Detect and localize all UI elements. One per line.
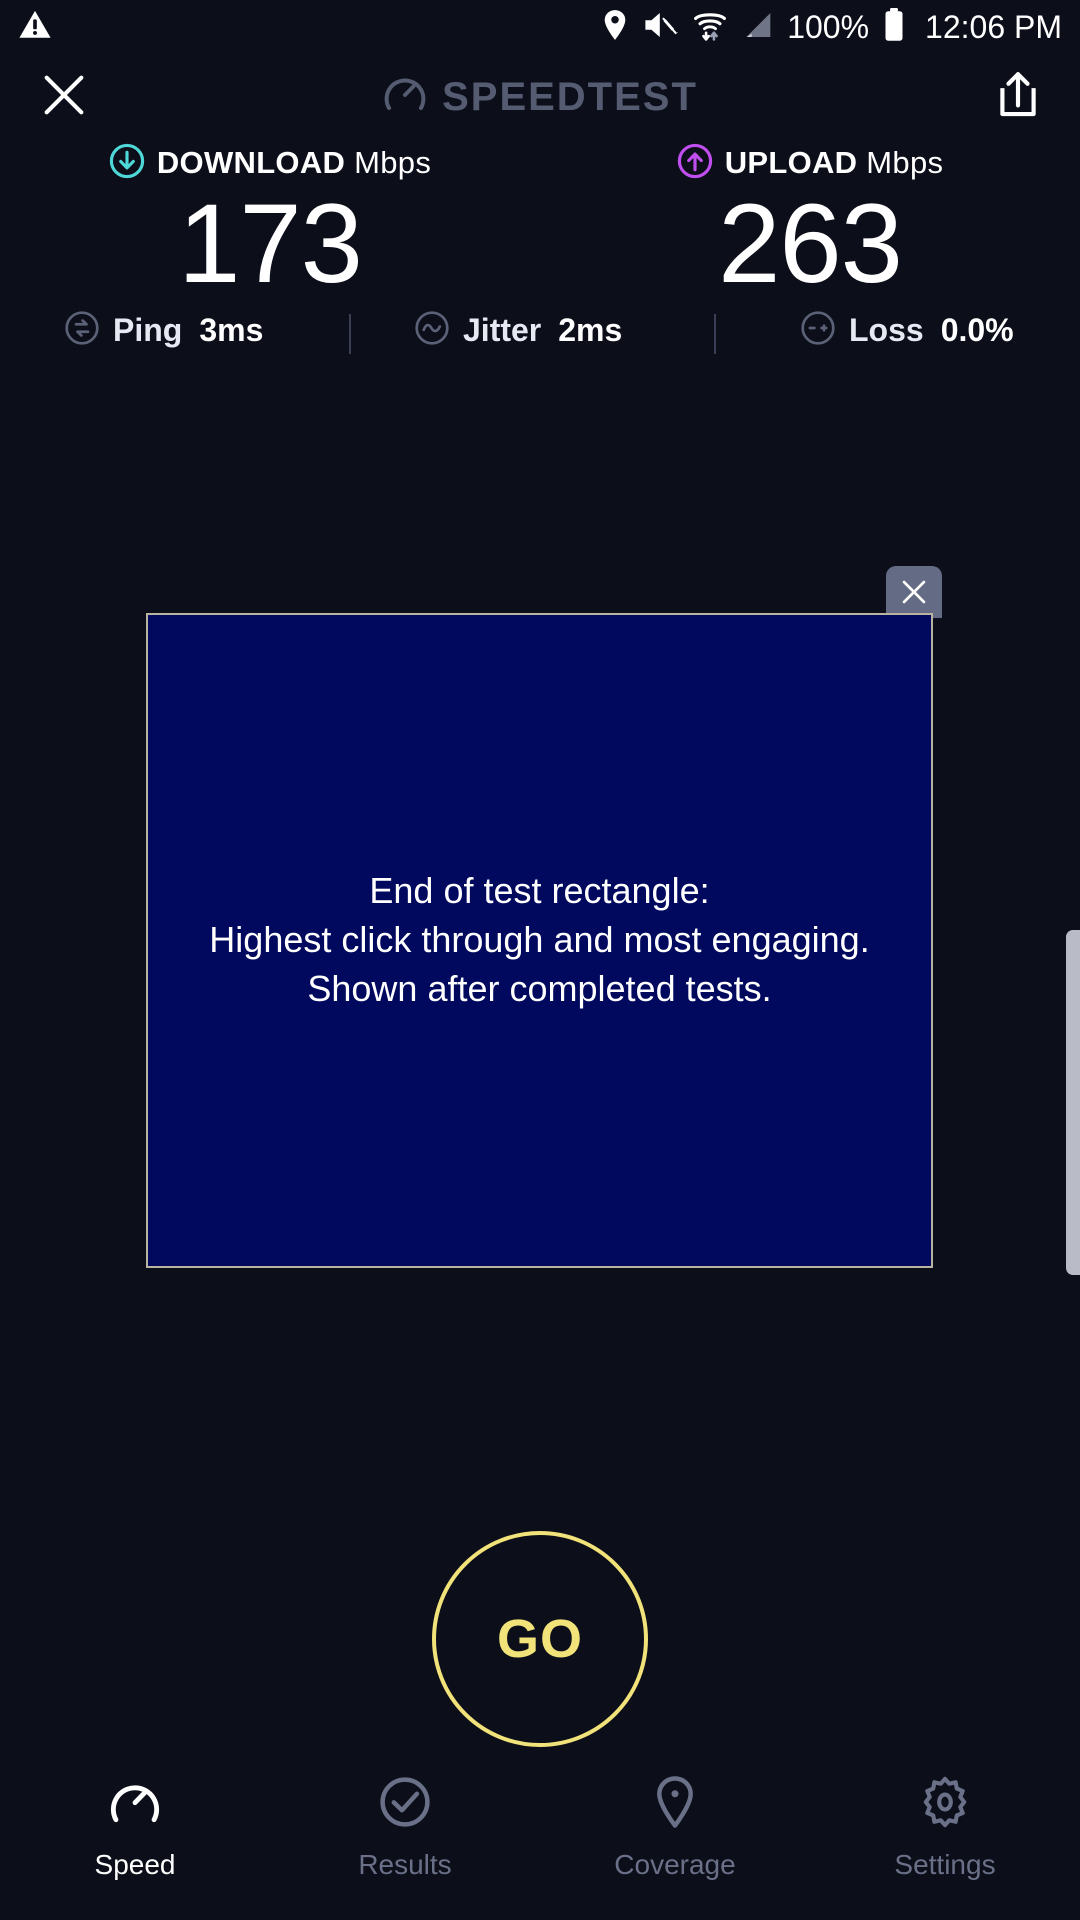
metric-separator: [349, 314, 351, 354]
metric-loss-value: 0.0%: [941, 312, 1014, 349]
go-button-label: GO: [497, 1608, 583, 1670]
gear-icon: [917, 1774, 973, 1835]
upload-label: UPLOAD Mbps: [725, 145, 944, 181]
metric-separator: [714, 314, 716, 354]
metric-ping-value: 3ms: [199, 312, 263, 349]
close-icon: [897, 575, 931, 609]
speed-results: DOWNLOAD Mbps 173 UPLOAD Mbps 263: [0, 140, 1080, 300]
loss-icon: [800, 310, 836, 351]
connection-metrics: Ping 3ms Jitter 2ms Loss 0.0%: [0, 302, 1080, 358]
ad-line-2: Highest click through and most engaging.: [209, 916, 869, 965]
nav-item-speed[interactable]: Speed: [0, 1774, 270, 1881]
nav-item-settings[interactable]: Settings: [810, 1774, 1080, 1881]
speedometer-icon: [382, 72, 428, 123]
bottom-navigation: Speed Results Coverage: [0, 1760, 1080, 1920]
download-label-row: DOWNLOAD Mbps: [109, 140, 431, 186]
metric-ping-label: Ping: [113, 312, 182, 349]
speedtest-app-screen: 100% 12:06 PM SPEEDTEST: [0, 0, 1080, 1920]
go-button[interactable]: GO: [432, 1531, 648, 1747]
status-bar-clock: 12:06 PM: [925, 9, 1062, 46]
upload-value: 263: [718, 188, 902, 300]
status-bar-right: 100% 12:06 PM: [601, 8, 1062, 47]
nav-label-speed: Speed: [95, 1849, 176, 1881]
nav-label-coverage: Coverage: [614, 1849, 735, 1881]
metric-jitter-label: Jitter: [463, 312, 541, 349]
download-label: DOWNLOAD Mbps: [157, 145, 431, 181]
metric-loss: Loss 0.0%: [800, 310, 1014, 351]
upload-label-row: UPLOAD Mbps: [677, 140, 944, 186]
battery-full-icon: [883, 8, 905, 47]
nav-label-results: Results: [358, 1849, 451, 1881]
download-value: 173: [178, 188, 362, 300]
app-header: SPEEDTEST: [0, 54, 1080, 140]
close-button[interactable]: [38, 69, 90, 126]
nav-item-coverage[interactable]: Coverage: [540, 1774, 810, 1881]
metric-jitter-value: 2ms: [558, 312, 622, 349]
header-title-group: SPEEDTEST: [0, 54, 1080, 140]
location-pin-icon: [601, 9, 629, 46]
metric-loss-label: Loss: [849, 312, 924, 349]
jitter-icon: [414, 310, 450, 351]
metric-jitter: Jitter 2ms: [414, 310, 622, 351]
status-bar: 100% 12:06 PM: [0, 0, 1080, 54]
volume-muted-icon: [643, 9, 679, 46]
check-circle-icon: [377, 1774, 433, 1835]
upload-arrow-icon: [677, 143, 713, 184]
warning-triangle-icon: [18, 8, 52, 47]
nav-item-results[interactable]: Results: [270, 1774, 540, 1881]
vertical-scrollbar[interactable]: [1066, 930, 1080, 1275]
advertisement-banner[interactable]: End of test rectangle: Highest click thr…: [146, 613, 933, 1268]
battery-percent-label: 100%: [787, 9, 869, 46]
metric-ping: Ping 3ms: [64, 310, 263, 351]
location-pin-icon: [647, 1774, 703, 1835]
nav-label-settings: Settings: [894, 1849, 995, 1881]
cellular-signal-icon: [741, 10, 773, 45]
ad-line-1: End of test rectangle:: [209, 867, 869, 916]
ad-text: End of test rectangle: Highest click thr…: [209, 867, 869, 1014]
status-bar-left: [18, 8, 52, 47]
ad-line-3: Shown after completed tests.: [209, 965, 869, 1014]
download-arrow-icon: [109, 143, 145, 184]
ad-close-button[interactable]: [886, 566, 942, 618]
download-result: DOWNLOAD Mbps 173: [0, 140, 540, 300]
page-title: SPEEDTEST: [442, 75, 698, 120]
speedometer-icon: [107, 1774, 163, 1835]
ping-icon: [64, 310, 100, 351]
share-button[interactable]: [994, 69, 1042, 126]
upload-result: UPLOAD Mbps 263: [540, 140, 1080, 300]
wifi-icon: [693, 8, 727, 47]
